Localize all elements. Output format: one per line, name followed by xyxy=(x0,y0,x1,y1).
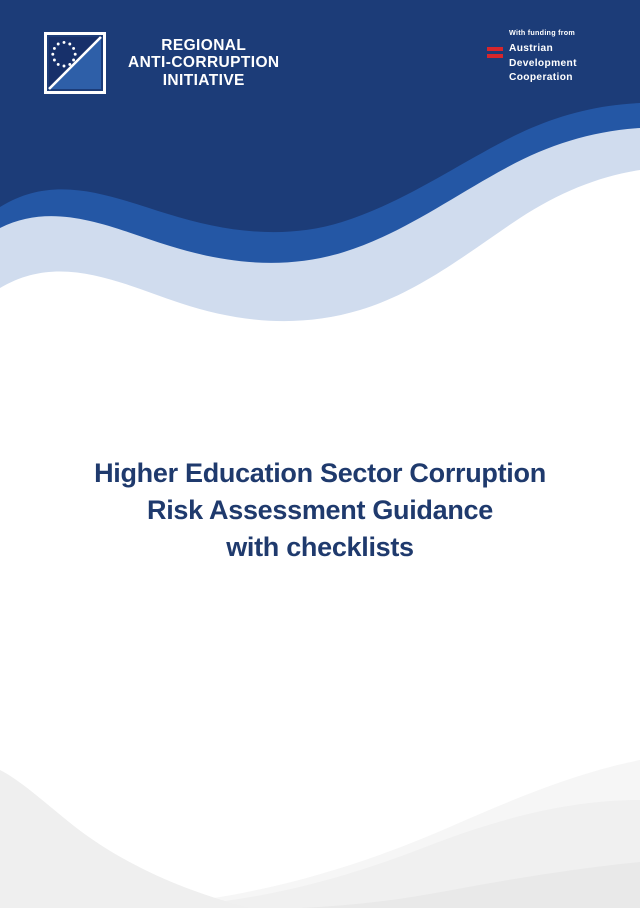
wordmark-line-1: REGIONAL xyxy=(128,37,280,55)
rai-mark-svg xyxy=(44,32,106,94)
wordmark-line-2: ANTI-CORRUPTION xyxy=(128,54,280,72)
austria-flag-icon xyxy=(487,47,503,58)
funding-line-1: Austrian xyxy=(509,42,577,57)
cover-header: REGIONAL ANTI-CORRUPTION INITIATIVE With… xyxy=(0,0,640,120)
funding-line-2: Development xyxy=(509,57,577,72)
title-line-3: with checklists xyxy=(0,529,640,566)
funding-line-3: Cooperation xyxy=(509,71,577,86)
document-cover-page: REGIONAL ANTI-CORRUPTION INITIATIVE With… xyxy=(0,0,640,908)
document-title: Higher Education Sector Corruption Risk … xyxy=(0,455,640,566)
wave-footer-grey-dark xyxy=(300,862,640,908)
wave-footer-grey-mid xyxy=(0,800,640,908)
rai-logo-lockup: REGIONAL ANTI-CORRUPTION INITIATIVE xyxy=(44,32,280,94)
funding-credit-lockup: With funding from Austrian Development C… xyxy=(487,28,617,86)
wave-footer-grey-light xyxy=(0,760,640,908)
cover-background-artwork xyxy=(0,0,640,908)
wordmark-line-3: INITIATIVE xyxy=(128,72,280,90)
title-line-2: Risk Assessment Guidance xyxy=(0,492,640,529)
organisation-wordmark: REGIONAL ANTI-CORRUPTION INITIATIVE xyxy=(128,37,280,90)
funding-caption: With funding from xyxy=(509,28,617,37)
funding-organisation-name: Austrian Development Cooperation xyxy=(509,42,577,86)
flag-stripe-bottom xyxy=(487,54,503,58)
rai-eu-diagonal-mark-icon xyxy=(44,32,106,94)
title-line-1: Higher Education Sector Corruption xyxy=(0,455,640,492)
wave-footer-grey-left xyxy=(0,770,250,908)
